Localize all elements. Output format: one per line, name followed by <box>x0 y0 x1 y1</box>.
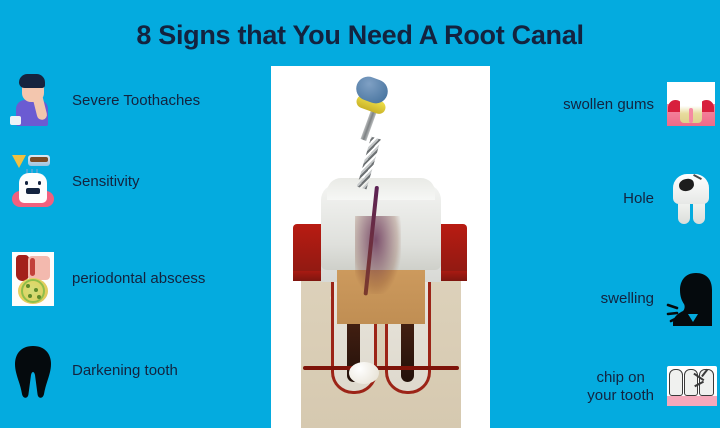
apical-abscess <box>349 362 379 384</box>
cavity-hole-icon <box>666 170 716 228</box>
infected-pulp <box>355 216 401 294</box>
sensitive-tooth-icon <box>8 153 58 211</box>
sign-label: swollen gums <box>563 96 654 114</box>
center-image-panel <box>271 66 490 428</box>
swollen-gums-icon <box>666 76 716 134</box>
sign-label: Darkening tooth <box>72 362 178 380</box>
sign-item-darkening-tooth[interactable]: Darkening tooth <box>8 342 266 400</box>
sign-label: Severe Toothaches <box>72 92 200 110</box>
periodontal-abscess-icon <box>8 250 58 308</box>
toothache-person-icon <box>8 72 58 130</box>
infographic-canvas: 8 Signs that You Need A Root Canal <box>0 0 720 428</box>
sign-label: chip on your tooth <box>587 369 654 404</box>
bone-level-line <box>303 366 459 370</box>
sign-item-swelling[interactable]: swelling <box>480 270 716 328</box>
sign-item-periodontal-abscess[interactable]: periodontal abscess <box>8 250 266 308</box>
dark-tooth-icon <box>8 342 58 400</box>
root-canal-illustration <box>271 66 490 428</box>
sign-item-severe-toothaches[interactable]: Severe Toothaches <box>8 72 266 130</box>
sign-item-hole[interactable]: Hole <box>480 170 716 228</box>
sign-item-chip-on-your-tooth[interactable]: chip on your tooth <box>480 358 716 416</box>
sign-item-sensitivity[interactable]: Sensitivity <box>8 153 266 211</box>
sign-label: Sensitivity <box>72 173 140 191</box>
facial-swelling-icon <box>666 270 716 328</box>
chipped-tooth-icon <box>666 358 716 416</box>
sign-label: Hole <box>623 190 654 208</box>
sign-label: swelling <box>601 290 654 308</box>
sign-item-swollen-gums[interactable]: swollen gums <box>480 76 716 134</box>
tooth-crown-top <box>327 178 435 200</box>
sign-label: periodontal abscess <box>72 270 205 288</box>
page-title: 8 Signs that You Need A Root Canal <box>0 20 720 51</box>
